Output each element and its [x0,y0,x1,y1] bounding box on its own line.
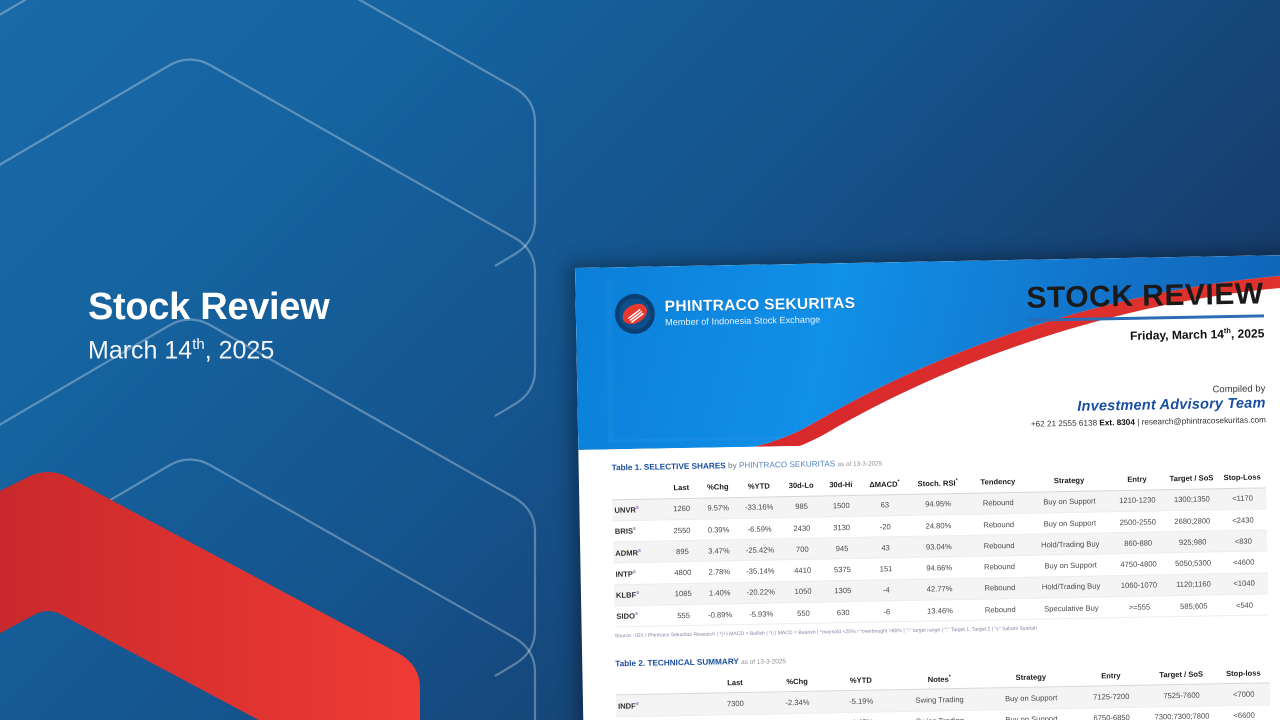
selective-shares-cell: 0.39% [700,518,738,540]
selective-shares-cell: Hold/Trading Buy [1030,576,1111,599]
technical-summary-col-header [615,673,704,695]
technical-summary-cell: 7125-7200 [1077,685,1146,708]
selective-shares-col-header: Last [663,478,699,499]
technical-summary-cell: <6600 [1218,704,1271,720]
technical-summary-cell: 7300 [704,692,767,714]
advisory-team-name: Investment Advisory Team [1030,395,1265,415]
selective-shares-ticker-cell: BRISs [613,520,665,542]
selective-shares-cell: 4800 [665,562,701,584]
technical-summary-cell: Buy on Support [985,687,1077,710]
selective-shares-cell: 2550 [664,519,700,541]
selective-shares-cell: 1120;1160 [1166,574,1220,596]
selective-shares-col-header [612,478,664,499]
table1-caption-by: by [726,461,739,470]
company-name: PHINTRACO SEKURITAS [665,296,856,315]
table2-caption-asof: as of 13-3-2025 [741,658,786,666]
technical-summary-cell: 0.72% [767,713,830,720]
selective-shares-cell: 2430 [782,517,822,539]
table2-caption-number: Table 2. [615,659,645,669]
technical-summary-cell: Buy on Support [986,708,1078,720]
selective-shares-cell: 945 [822,537,862,559]
selective-shares-cell: 5050;5300 [1166,552,1220,574]
table1-caption-company: PHINTRACO SEKURITAS [739,459,835,470]
selective-shares-ticker-cell: ADMRs [613,541,665,563]
table1-caption-name: SELECTIVE SHARES [644,461,726,471]
selective-shares-cell: Rebound [967,492,1029,514]
selective-shares-cell: Rebound [968,534,1030,556]
selective-shares-cell: 4410 [783,559,823,581]
stock-review-document[interactable]: PHINTRACO SEKURITAS Member of Indonesia … [575,255,1280,720]
selective-shares-cell: 860-880 [1110,532,1166,554]
slide-title-block: Stock Review March 14th, 2025 [88,288,329,365]
selective-shares-col-header: %Chg [699,477,737,498]
selective-shares-cell: 1060-1070 [1111,574,1167,596]
compiled-by-block: Compiled by Investment Advisory Team +62… [1030,383,1266,428]
selective-shares-cell: 895 [664,540,700,562]
selective-shares-cell: 1050 [783,581,823,603]
selective-shares-cell: 1210-1230 [1110,489,1166,511]
company-logo: PHINTRACO SEKURITAS Member of Indonesia … [613,289,855,335]
page-title: Stock Review [88,288,329,328]
selective-shares-cell: 3.47% [700,540,738,562]
selective-shares-cell: 93.04% [909,535,968,557]
selective-shares-table: Last%Chg%YTD30d-Lo30d-HiΔMACD*Stoch. RSI… [612,467,1269,627]
selective-shares-cell: 1260 [664,498,700,520]
technical-summary-cell: 7525-7600 [1145,684,1217,707]
document-date: Friday, March 14th, 2025 [1027,325,1264,344]
technical-summary-cell: -6.67% [829,711,895,720]
selective-shares-cell: Rebound [969,598,1031,620]
selective-shares-cell: 94.95% [908,493,967,515]
technical-summary-col-header: Entry [1076,665,1145,686]
technical-summary-cell: 7300;7300;7800 [1146,705,1218,720]
selective-shares-cell: 9.57% [699,497,737,519]
selective-shares-cell: -6 [863,601,911,623]
technical-summary-cell: 6750-6850 [1077,707,1146,720]
technical-summary-cell: -5.19% [828,690,894,713]
selective-shares-cell: -4 [863,579,911,601]
selective-shares-cell: -20 [861,515,909,537]
selective-shares-cell: 43 [862,537,910,559]
selective-shares-cell: Buy on Support [1029,490,1110,513]
technical-summary-col-header: Notes* [893,668,985,690]
contact-ext: Ext. 8304 [1099,418,1135,428]
title-underline-rule [1027,314,1264,321]
subtitle-date-prefix: March 14 [88,336,192,364]
selective-shares-cell: -25.42% [737,539,782,561]
selective-shares-cell: <830 [1219,530,1267,552]
selective-shares-col-header: Stop-Loss [1218,467,1266,488]
selective-shares-cell: Hold/Trading Buy [1030,533,1111,556]
technical-summary-ticker-cell: INDFs [616,694,705,717]
selective-shares-cell: 555 [665,604,701,626]
selective-shares-cell: -0.89% [701,604,739,626]
technical-summary-col-header: Stop-loss [1217,663,1270,684]
selective-shares-cell: -33.16% [737,496,782,518]
selective-shares-cell: 24.80% [909,514,968,536]
selective-shares-cell: 585;605 [1167,595,1221,617]
company-tagline: Member of Indonesia Stock Exchange [665,315,856,328]
selective-shares-cell: 5375 [822,559,862,581]
selective-shares-col-header: 30d-Lo [781,476,821,497]
technical-summary-cell: Swing Trading [894,688,986,711]
selective-shares-col-header: 30d-Hi [821,475,861,496]
contact-email[interactable]: research@phintracosekuritas.com [1141,415,1266,426]
contact-phone: +62 21 2555 6138 [1031,418,1097,428]
selective-shares-ticker-cell: KLBFs [614,584,666,606]
technical-summary-cell: -2.34% [766,691,829,713]
selective-shares-cell: Speculative Buy [1031,597,1112,620]
selective-shares-cell: 42.77% [910,578,969,600]
contact-line: +62 21 2555 6138 Ext. 8304 | research@ph… [1031,415,1266,428]
subtitle-year: , 2025 [205,336,275,364]
selective-shares-cell: -35.14% [738,560,783,582]
selective-shares-cell: >=555 [1112,596,1168,618]
selective-shares-cell: -6.59% [737,518,782,540]
selective-shares-cell: 1.40% [701,582,739,604]
technical-summary-ticker-cell: TINSs [616,715,705,720]
technical-summary-col-header: %Chg [766,671,828,692]
phintraco-logo-icon [613,293,656,336]
selective-shares-ticker-cell: INTPs [613,562,665,584]
doc-date-year: , 2025 [1231,326,1265,341]
slide-background: Stock Review March 14th, 2025 [0,0,1280,720]
table2-caption-name: TECHNICAL SUMMARY [647,657,739,668]
selective-shares-cell: Rebound [969,556,1031,578]
document-title-block: STOCK REVIEW Friday, March 14th, 2025 [1026,279,1264,344]
document-title: STOCK REVIEW [1026,279,1264,313]
selective-shares-cell: 1300;1350 [1165,488,1219,510]
technical-summary-cell: 3000 [704,714,767,720]
selective-shares-ticker-cell: UNVRs [612,498,664,520]
selective-shares-cell: 2680;2800 [1165,510,1219,532]
selective-shares-cell: 985 [781,496,821,518]
selective-shares-cell: 2500-2550 [1110,511,1166,533]
table1-caption-asof: as of 13-3-2025 [837,460,882,468]
selective-shares-cell: 1085 [665,583,701,605]
selective-shares-cell: 630 [823,601,863,623]
technical-summary-cell: <7000 [1217,683,1270,705]
selective-shares-cell: <2430 [1219,509,1267,531]
technical-summary-col-header: %YTD [828,670,894,691]
selective-shares-cell: <4600 [1220,551,1268,573]
selective-shares-cell: Buy on Support [1030,554,1111,577]
table1-caption-number: Table 1. [612,463,642,473]
selective-shares-cell: 700 [782,538,822,560]
selective-shares-cell: 151 [862,558,910,580]
selective-shares-cell: 94.66% [910,557,969,579]
selective-shares-cell: 925;980 [1166,531,1220,553]
technical-summary-cell: Swing Trading [894,710,986,720]
red-chevron-accent [0,455,450,720]
selective-shares-cell: -20.22% [738,582,783,604]
table1-body: UNVRs12609.57%-33.16%98515006394.95%Rebo… [612,487,1268,627]
selective-shares-cell: Rebound [968,513,1030,535]
selective-shares-cell: 63 [861,494,909,516]
technical-summary-col-header: Strategy [985,667,1077,689]
selective-shares-cell: Rebound [969,577,1031,599]
selective-shares-cell: -5.93% [739,603,784,625]
technical-summary-col-header: Last [704,672,766,693]
selective-shares-col-header: Tendency [967,472,1029,493]
selective-shares-cell: <540 [1221,594,1269,616]
selective-shares-col-header: Strategy [1029,470,1110,492]
selective-shares-col-header: Entry [1109,469,1164,490]
selective-shares-cell: 1500 [821,495,861,517]
technical-summary-col-header: Target / SoS [1145,664,1217,685]
selective-shares-cell: 2.78% [701,561,739,583]
document-header-band: PHINTRACO SEKURITAS Member of Indonesia … [575,255,1280,450]
technical-summary-table: Last%Chg%YTDNotes*StrategyEntryTarget / … [615,663,1270,720]
selective-shares-cell: 4750-4800 [1111,553,1167,575]
selective-shares-cell: 1305 [823,580,863,602]
selective-shares-cell: 3130 [822,516,862,538]
document-body: Table 1. SELECTIVE SHARES by PHINTRACO S… [578,437,1280,720]
selective-shares-cell: <1040 [1220,573,1268,595]
selective-shares-cell: 13.46% [910,599,969,621]
selective-shares-cell: <1170 [1219,487,1267,509]
selective-shares-col-header: Stoch. RSI* [908,473,967,494]
doc-date-prefix: Friday, March 14 [1130,327,1224,343]
selective-shares-cell: 550 [783,602,823,624]
selective-shares-col-header: %YTD [736,476,781,497]
selective-shares-col-header: ΔMACD* [861,474,909,495]
slide-subtitle: March 14th, 2025 [88,337,329,365]
selective-shares-ticker-cell: SIDOs [614,605,666,627]
selective-shares-cell: Buy on Support [1029,512,1110,535]
selective-shares-col-header: Target / SoS [1164,468,1218,489]
subtitle-ordinal-suffix: th [192,336,205,353]
